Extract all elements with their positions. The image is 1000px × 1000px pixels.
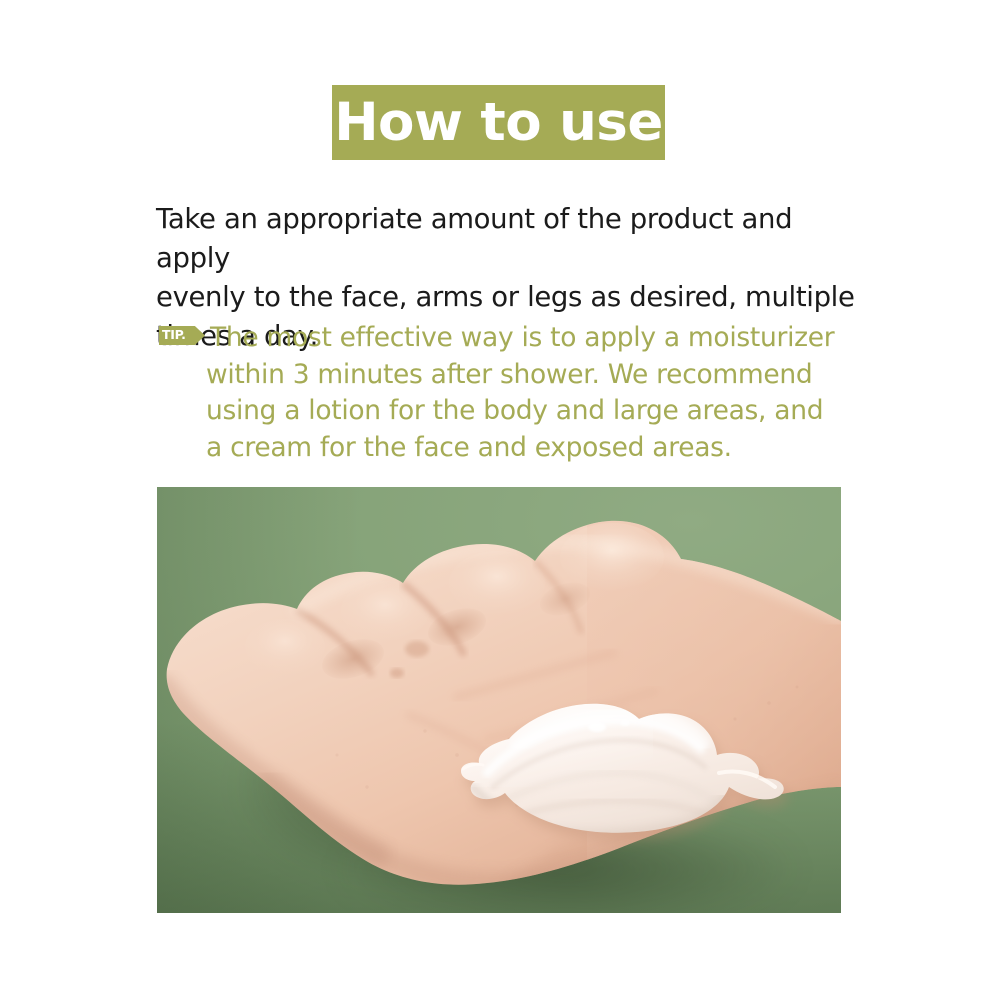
instructions-line-1: Take an appropriate amount of the produc…: [156, 200, 856, 278]
tip-line-4: a cream for the face and exposed areas.: [206, 430, 849, 467]
tip-line-2: within 3 minutes after shower. We recomm…: [206, 357, 849, 394]
instructions-line-2: evenly to the face, arms or legs as desi…: [156, 278, 856, 317]
tip-line-3: using a lotion for the body and large ar…: [206, 393, 849, 430]
tip-line-1: The most effective way is to apply a moi…: [210, 320, 849, 357]
page-title: How to use: [334, 96, 663, 149]
hand-illustration: [157, 487, 841, 913]
hand-shape: [163, 487, 841, 913]
tip-paragraph: The most effective way is to apply a moi…: [159, 320, 849, 466]
product-usage-photo: [157, 487, 841, 913]
tip-badge-label: TIP.: [162, 329, 186, 342]
page-header-banner: How to use: [332, 85, 665, 160]
tip-block: TIP. The most effective way is to apply …: [159, 320, 849, 466]
tip-row: TIP. The most effective way is to apply …: [159, 320, 849, 466]
